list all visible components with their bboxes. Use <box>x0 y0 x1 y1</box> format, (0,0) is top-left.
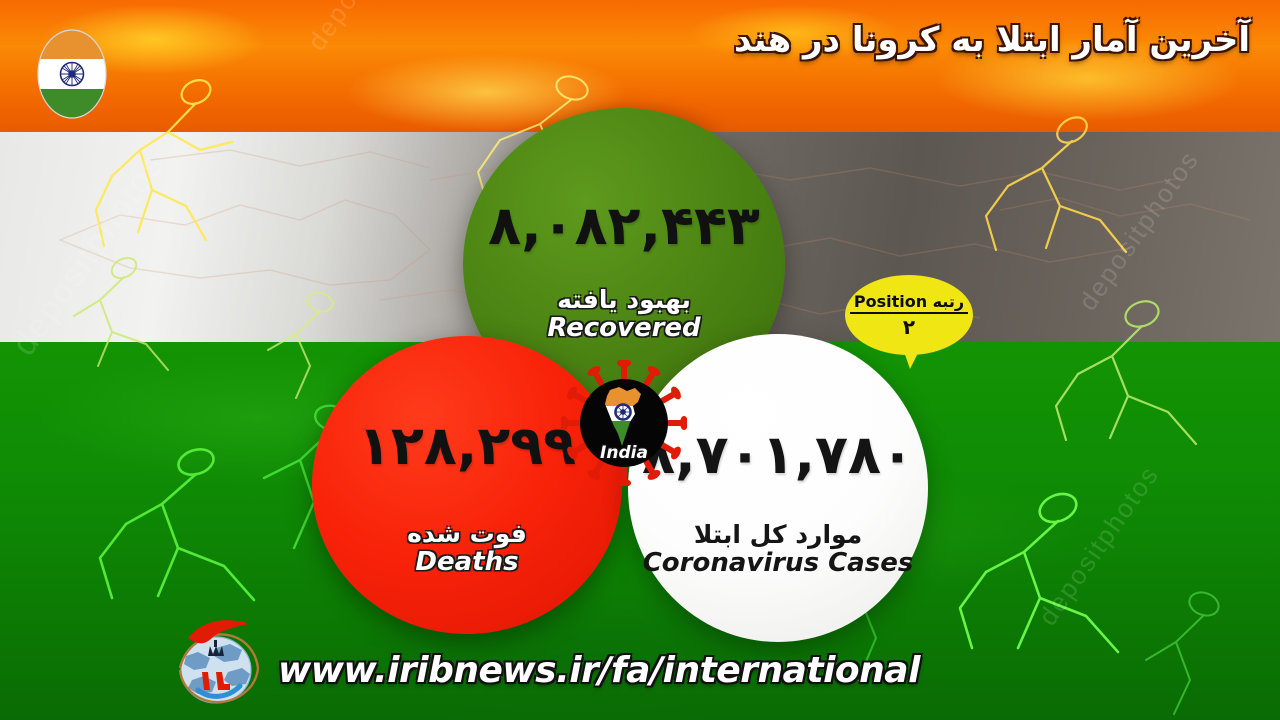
recovered-label-fa: بهبود یافته <box>557 287 691 313</box>
position-value: ۲ <box>903 317 915 337</box>
deaths-label-en: Deaths <box>415 548 518 577</box>
page-title: آخرین آمار ابتلا به کرونا در هند <box>734 20 1250 60</box>
position-bubble: رتبه Position ۲ <box>845 275 973 373</box>
position-label: رتبه Position <box>850 293 968 315</box>
recovered-value: ۸,۰۸۲,۴۴۳ <box>488 199 760 253</box>
cases-label-en: Coronavirus Cases <box>643 549 914 578</box>
deaths-value: ۱۲۸,۲۹۹ <box>358 419 576 473</box>
irib-globe-logo-icon <box>168 612 270 710</box>
virus-country-label: India <box>600 443 648 463</box>
bubble-body: رتبه Position ۲ <box>845 275 973 355</box>
footer-url[interactable]: www.iribnews.ir/fa/international <box>278 650 920 691</box>
deaths-label-fa: فوت شده <box>407 521 527 547</box>
coronavirus-icon: India <box>561 360 687 486</box>
india-flag-icon <box>36 28 108 120</box>
cases-label-fa: موارد کل ابتلا <box>694 522 862 548</box>
recovered-label-en: Recovered <box>547 314 700 343</box>
infographic-canvas: depositphotos depo depositphotos deposit… <box>0 0 1280 720</box>
